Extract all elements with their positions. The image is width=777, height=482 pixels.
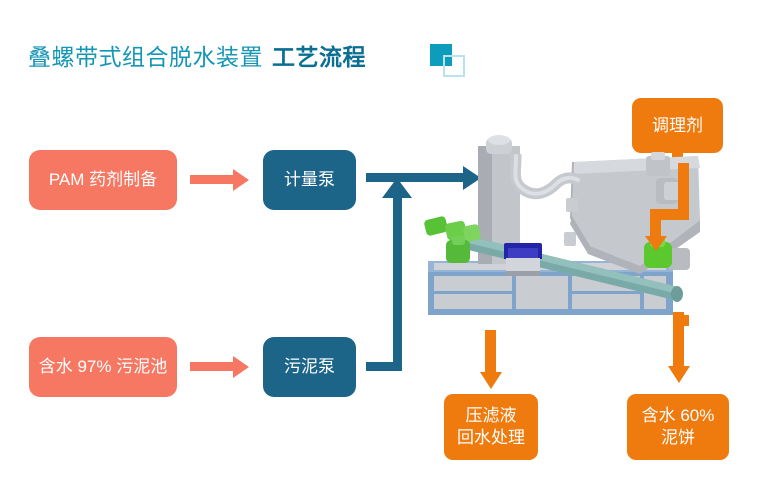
machine-pedestal xyxy=(506,258,540,272)
node-cake-line1: 含水 60% xyxy=(642,405,715,427)
node-metering-pump[interactable]: 计量泵 xyxy=(263,150,356,210)
green-valve-left-cap xyxy=(452,236,465,245)
node-sludge-pump[interactable]: 污泥泵 xyxy=(263,337,356,397)
arrow-pam-to-metering-head-icon xyxy=(233,169,249,191)
arrow-sludgepump-vertical-segment xyxy=(393,196,402,366)
arrow-machine-to-cake-head-icon xyxy=(668,366,690,383)
arrow-machine-to-filtrate-shaft xyxy=(485,330,496,377)
machine-curved-pipe xyxy=(508,154,588,214)
machine-navy-control-box-face xyxy=(508,248,538,258)
arrow-conditioner-head-icon xyxy=(645,236,667,251)
page-title-main: 叠螺带式组合脱水装置 xyxy=(28,44,263,70)
page-title: 叠螺带式组合脱水装置工艺流程 xyxy=(28,38,366,72)
arrow-pool-to-sludgepump-shaft xyxy=(190,362,234,371)
node-mud-cake[interactable]: 含水 60% 泥饼 xyxy=(627,394,729,460)
arrow-machine-to-filtrate-head-icon xyxy=(480,372,502,389)
flowchart-canvas: 叠螺带式组合脱水装置工艺流程 PAM 药剂制备 计量泵 含水 97% 污泥池 污… xyxy=(0,0,777,482)
node-filtrate-line1: 压滤液 xyxy=(457,405,525,427)
arrow-pam-to-metering-shaft xyxy=(190,175,234,184)
decorative-square-outline-icon xyxy=(443,55,465,77)
arrow-pool-to-sludgepump-head-icon xyxy=(233,356,249,378)
machine-pedestal-base xyxy=(506,271,540,276)
screw-press-dewatering-machine xyxy=(420,130,710,330)
arrow-conditioner-vertical-segment xyxy=(678,163,689,215)
page-title-accent: 工艺流程 xyxy=(272,44,366,70)
arrow-machine-to-cake-shaft xyxy=(673,312,684,371)
arrow-sludgepump-up-head-icon xyxy=(382,178,412,198)
node-filtrate-line2: 回水处理 xyxy=(457,427,525,449)
node-cake-line2: 泥饼 xyxy=(642,427,715,449)
node-filtrate-return-water[interactable]: 压滤液 回水处理 xyxy=(444,394,538,460)
machine-side-fitting-cap xyxy=(651,152,665,160)
node-sludge-pool[interactable]: 含水 97% 污泥池 xyxy=(29,337,177,397)
node-pam-preparation[interactable]: PAM 药剂制备 xyxy=(29,150,177,210)
machine-top-cap-lid xyxy=(488,135,510,145)
